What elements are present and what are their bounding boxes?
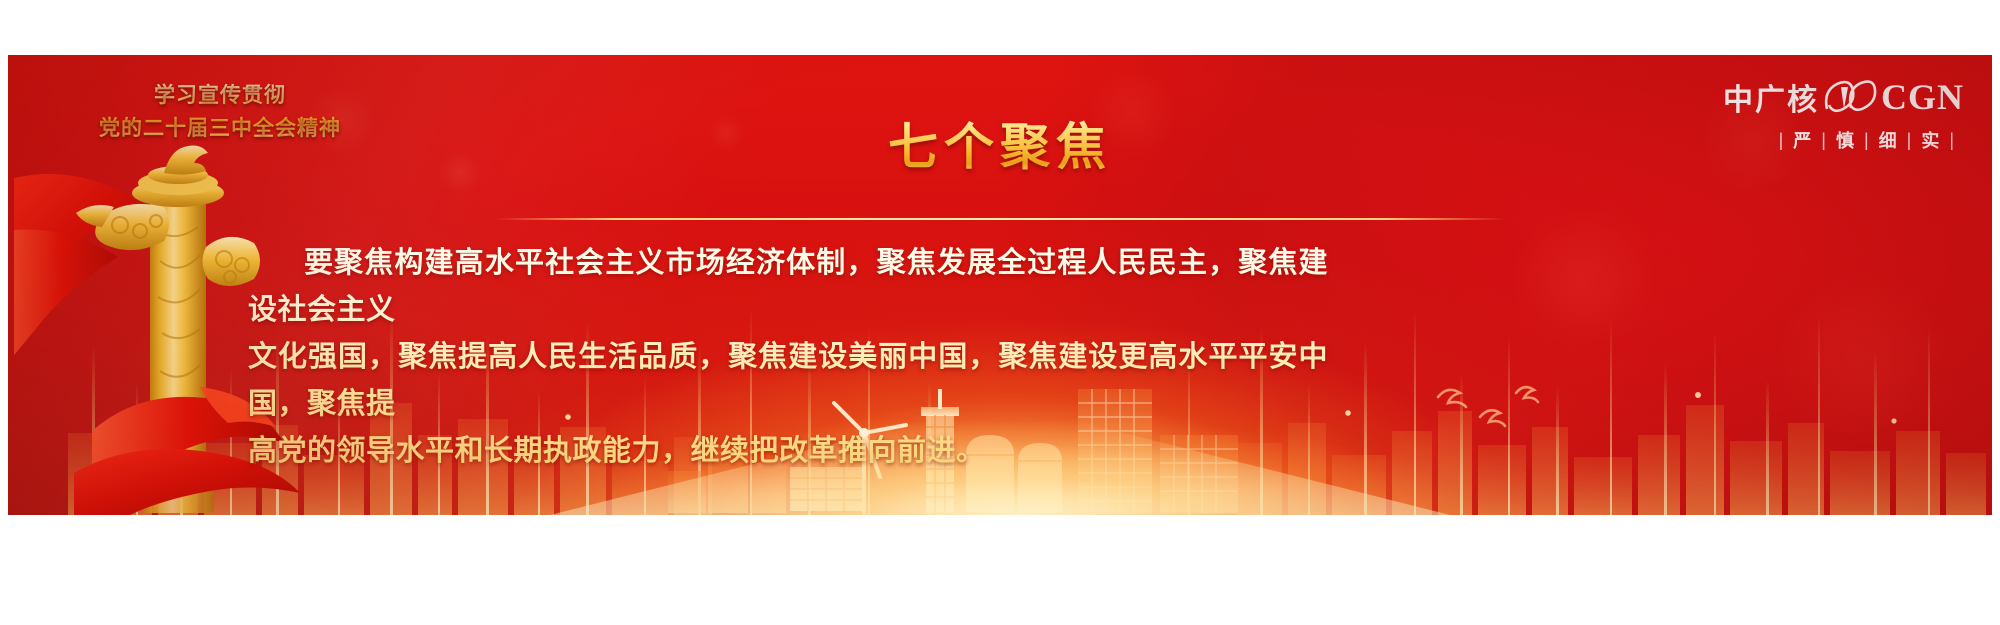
body-line-2: 文化强国，聚焦提高人民生活品质，聚焦建设美丽中国，聚焦建设更高水平平安中国，聚焦… bbox=[248, 334, 1328, 428]
motto-char-2: 慎 bbox=[1836, 127, 1855, 153]
motto-separator: | bbox=[1940, 130, 1964, 151]
motto-char-1: 严 bbox=[1793, 127, 1812, 153]
motto-separator: | bbox=[1812, 130, 1836, 151]
body-paragraph: 要聚焦构建高水平社会主义市场经济体制，聚焦发展全过程人民民主，聚焦建设社会主义 … bbox=[248, 240, 1328, 475]
cgn-swirl-icon bbox=[1821, 77, 1879, 117]
banner-root: 学习宣传贯彻 党的二十届三中全会精神 七个聚焦 要聚焦构建高水平社会主义市场经济… bbox=[8, 55, 1992, 515]
motto-separator: | bbox=[1855, 130, 1879, 151]
motto-separator: | bbox=[1898, 130, 1922, 151]
bokeh-dot bbox=[1768, 265, 1958, 455]
logo-motto: | 严 | 慎 | 细 | 实 | bbox=[1634, 127, 1964, 153]
logo-english-name: CGN bbox=[1881, 76, 1964, 118]
bokeh-dot bbox=[1508, 205, 1658, 355]
banner-page: 学习宣传贯彻 党的二十届三中全会精神 七个聚焦 要聚焦构建高水平社会主义市场经济… bbox=[0, 0, 2000, 625]
logo-wordmark: 中广核 CGN bbox=[1634, 75, 1964, 119]
gold-divider bbox=[495, 218, 1505, 220]
motto-separator: | bbox=[1770, 130, 1794, 151]
logo-chinese-name: 中广核 bbox=[1723, 75, 1819, 119]
cgn-logo[interactable]: 中广核 CGN | 严 | 慎 | 细 bbox=[1634, 75, 1964, 153]
motto-char-3: 细 bbox=[1879, 127, 1898, 153]
body-line-3: 高党的领导水平和长期执政能力，继续把改革推向前进。 bbox=[248, 428, 1328, 475]
motto-char-4: 实 bbox=[1921, 127, 1940, 153]
body-line-1: 要聚焦构建高水平社会主义市场经济体制，聚焦发展全过程人民民主，聚焦建设社会主义 bbox=[248, 240, 1328, 334]
